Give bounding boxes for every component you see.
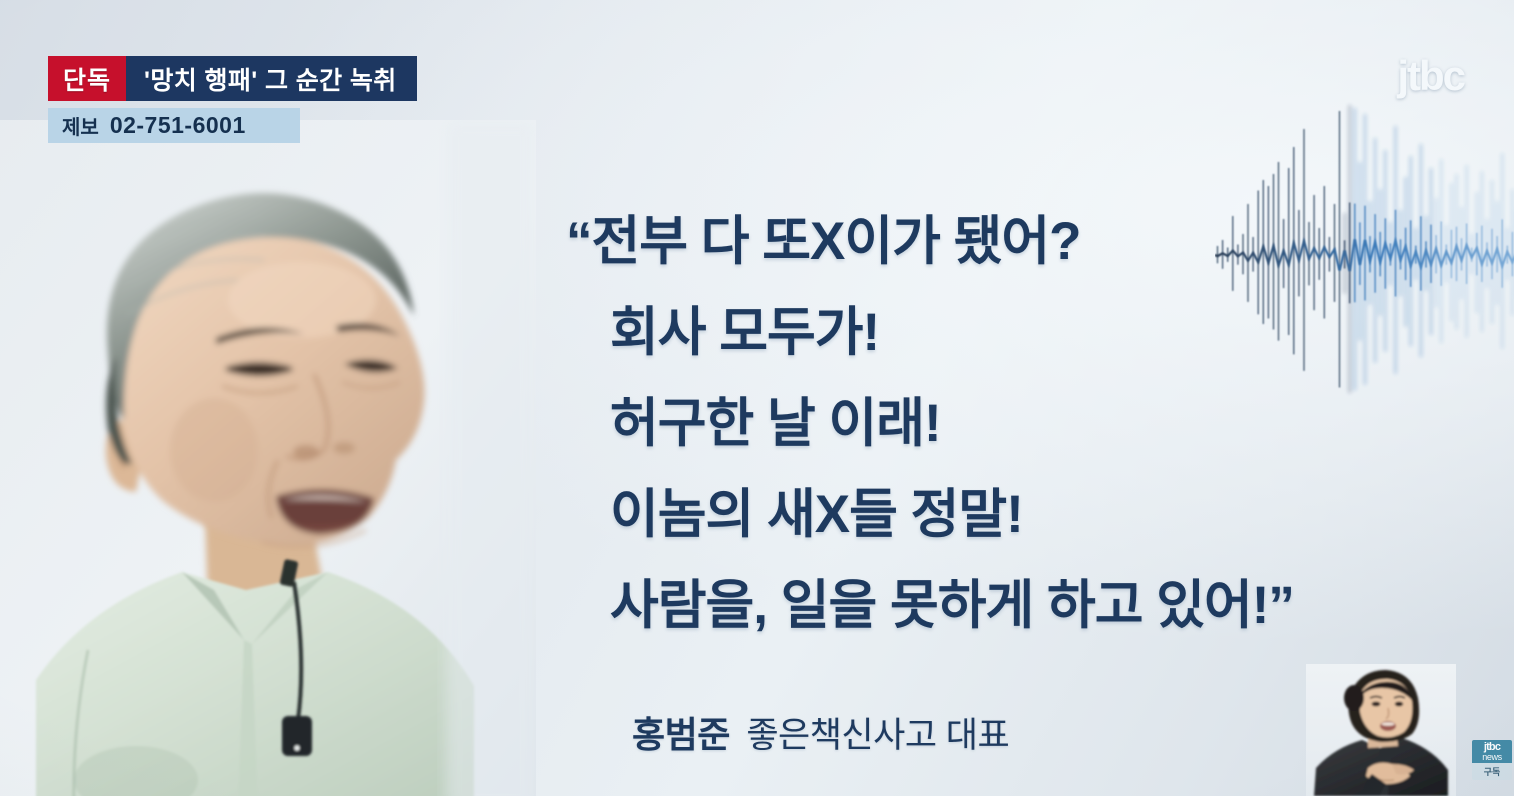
quote-line: 회사 모두가! [566,287,1496,378]
quote-line: “전부 다 또X이가 됐어? [566,196,1496,287]
headline-text: '망치 행패' 그 순간 녹취 [126,56,417,101]
tipline-phone-number: 02-751-6001 [110,112,246,139]
subscribe-watermark[interactable]: jtbc news 구독 [1472,740,1512,780]
broadcast-frame: 단독 '망치 행패' 그 순간 녹취 제보 02-751-6001 jtbc “… [0,0,1514,796]
quote-line: 허구한 날 이래! [566,378,1496,469]
jtbc-logo: jtbc [1397,52,1464,100]
subscribe-label[interactable]: 구독 [1472,763,1512,780]
tipline-row: 제보 02-751-6001 [48,108,300,143]
subscribe-logo: jtbc news [1472,740,1512,763]
headline-row: 단독 '망치 행패' 그 순간 녹취 [48,56,417,101]
subscribe-logo-jtbc: jtbc [1484,742,1500,753]
quote-line: 사람을, 일을 못하게 하고 있어!” [566,560,1496,651]
speaker-portrait-image [0,120,536,796]
sign-language-interpreter-inset [1306,664,1456,796]
header-banner: 단독 '망치 행패' 그 순간 녹취 제보 02-751-6001 [48,56,417,143]
quote-line: 이놈의 새X들 정말! [566,469,1496,560]
exclusive-badge: 단독 [48,56,126,101]
quote-block: “전부 다 또X이가 됐어? 회사 모두가! 허구한 날 이래! 이놈의 새X들… [566,196,1496,651]
tipline-label: 제보 [62,111,99,140]
attribution-name: 홍범준 [632,714,730,755]
attribution: 홍범준 좋은책신사고 대표 [632,706,1009,758]
attribution-title: 좋은책신사고 대표 [746,716,1009,755]
subscribe-logo-news: news [1482,753,1501,762]
